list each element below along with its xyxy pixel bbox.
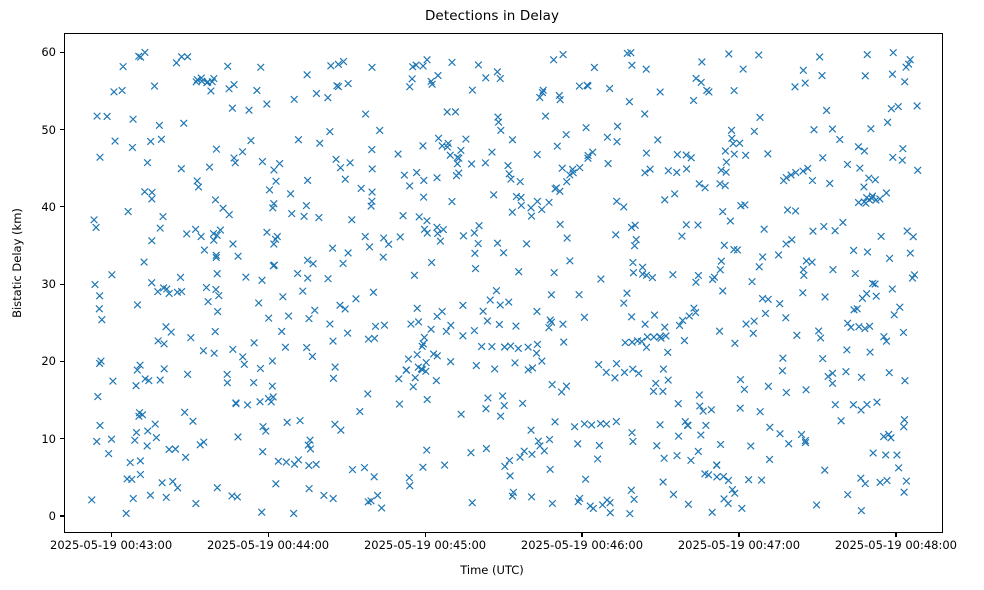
x-tick-mark <box>895 533 896 537</box>
x-tick-mark <box>425 533 426 537</box>
y-axis-label: Bistatic Delay (km) <box>10 143 24 383</box>
x-tick-mark <box>581 533 582 537</box>
x-tick-label: 2025-05-19 00:48:00 <box>835 538 957 552</box>
y-tick-mark <box>60 284 64 285</box>
page-title: Detections in Delay <box>0 8 984 24</box>
x-tick-mark <box>111 533 112 537</box>
y-tick-label: 50 <box>0 123 56 137</box>
y-tick-mark <box>60 361 64 362</box>
y-tick-label: 20 <box>0 354 56 368</box>
y-tick-mark <box>60 52 64 53</box>
y-tick-mark <box>60 515 64 516</box>
y-tick-mark <box>60 206 64 207</box>
plot-area[interactable] <box>64 33 943 533</box>
x-axis-label: Time (UTC) <box>0 563 984 577</box>
y-tick-mark <box>60 129 64 130</box>
y-tick-label: 0 <box>0 509 56 523</box>
x-tick-mark <box>738 533 739 537</box>
y-tick-label: 60 <box>0 45 56 59</box>
x-tick-label: 2025-05-19 00:45:00 <box>364 538 486 552</box>
y-tick-label: 10 <box>0 432 56 446</box>
x-tick-label: 2025-05-19 00:47:00 <box>678 538 800 552</box>
y-tick-label: 30 <box>0 277 56 291</box>
x-tick-label: 2025-05-19 00:44:00 <box>207 538 329 552</box>
x-tick-label: 2025-05-19 00:43:00 <box>50 538 172 552</box>
scatter-points-layer <box>65 34 943 533</box>
scatter-marker-set <box>88 49 921 517</box>
x-tick-mark <box>268 533 269 537</box>
figure-canvas: Detections in Delay 0102030405060 2025-0… <box>0 0 984 590</box>
y-tick-mark <box>60 438 64 439</box>
y-tick-label: 40 <box>0 200 56 214</box>
x-tick-label: 2025-05-19 00:46:00 <box>521 538 643 552</box>
